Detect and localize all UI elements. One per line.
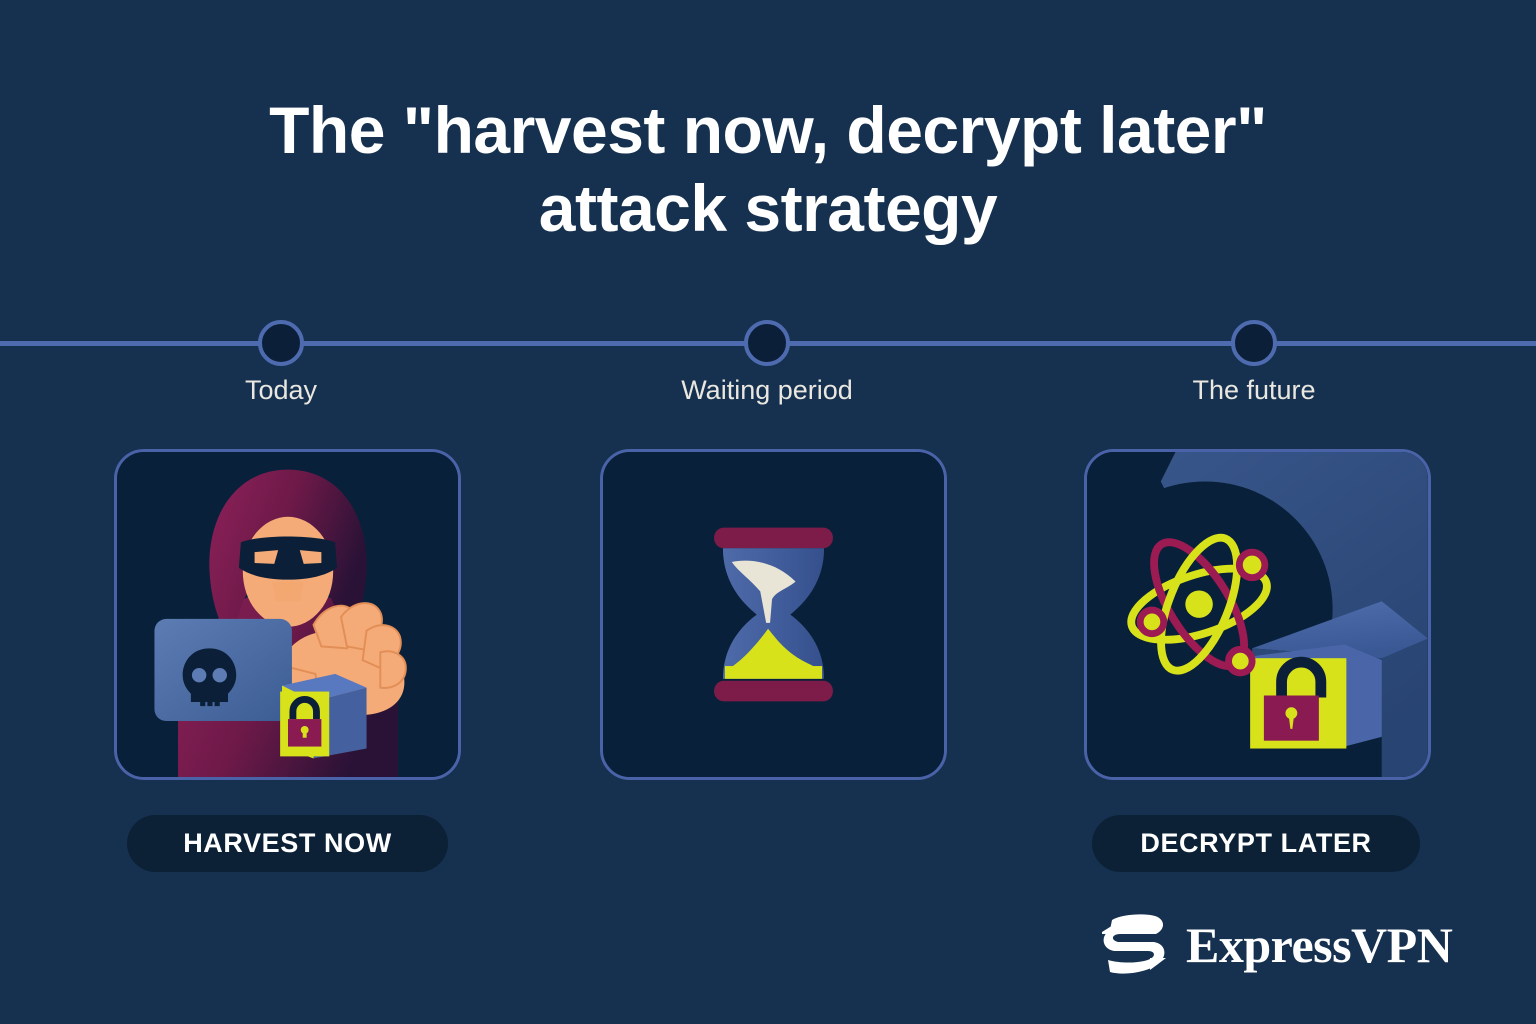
timeline-label-the-future: The future (1084, 375, 1424, 406)
card-waiting-period (600, 449, 947, 780)
badge-decrypt-later-label: DECRYPT LATER (1140, 828, 1371, 859)
hacker-laptop-locked-box-icon (117, 452, 458, 777)
timeline-label-today: Today (111, 375, 451, 406)
badge-harvest-now-label: HARVEST NOW (183, 828, 392, 859)
timeline-label-waiting-period: Waiting period (597, 375, 937, 406)
title-line-2: attack strategy (0, 170, 1536, 248)
brand-name: ExpressVPN (1186, 920, 1452, 970)
timeline-node-waiting-period (744, 320, 790, 366)
timeline-node-today (258, 320, 304, 366)
infographic-canvas: The "harvest now, decrypt later" attack … (0, 0, 1536, 1024)
timeline-node-the-future (1231, 320, 1277, 366)
card-harvest-now (114, 449, 461, 780)
badge-decrypt-later: DECRYPT LATER (1092, 815, 1420, 872)
card-decrypt-later (1084, 449, 1431, 780)
hourglass-icon (603, 452, 944, 777)
locked-box-icon (280, 674, 366, 758)
expressvpn-e-logo-icon (1098, 912, 1170, 978)
brand-logo: ExpressVPN (1098, 912, 1452, 978)
title-line-1: The "harvest now, decrypt later" (0, 92, 1536, 170)
page-title: The "harvest now, decrypt later" attack … (0, 92, 1536, 248)
badge-harvest-now: HARVEST NOW (127, 815, 448, 872)
quantum-atom-unlocked-box-icon (1087, 452, 1428, 777)
